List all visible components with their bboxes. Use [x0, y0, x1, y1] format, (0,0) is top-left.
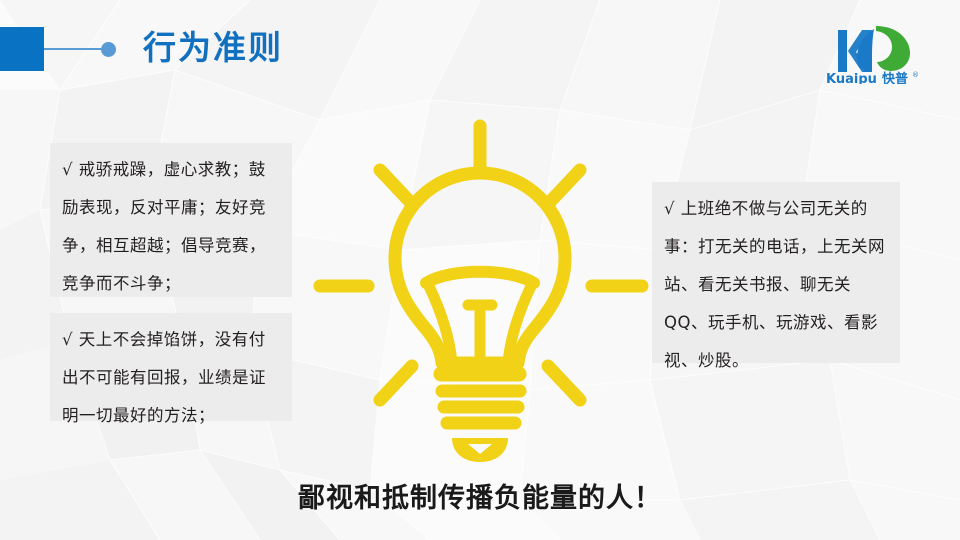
header-accent-square: [0, 27, 44, 71]
bottom-headline: 鄙视和抵制传播负能量的人！: [0, 476, 960, 515]
panel-right-check: √: [664, 199, 675, 218]
panel-left-bottom-text: 天上不会掉馅饼，没有付出不可能有回报，业绩是证明一切最好的方法；: [62, 330, 266, 425]
logo-registered-mark: ®: [912, 71, 919, 79]
ray-top-left: [380, 170, 412, 204]
ray-bottom-left: [380, 366, 412, 400]
logo-wordmark-cn: 快普: [882, 71, 908, 84]
panel-left-top-text: 戒骄戒躁，虚心求教；鼓励表现，反对平庸；友好竞争，相互超越；倡导竞赛，竞争而不斗…: [62, 160, 266, 293]
panel-left-bottom: √ 天上不会掉馅饼，没有付出不可能有回报，业绩是证明一切最好的方法；: [50, 313, 292, 421]
bulb-screw-base: [441, 374, 520, 423]
logo-wordmark-latin: Kuaipu: [826, 72, 877, 84]
header-connector-dot: [101, 42, 116, 57]
panel-right-text: 上班绝不做与公司无关的事：打无关的电话，上无关网站、看无关书报、聊无关QQ、玩手…: [664, 199, 885, 370]
panel-left-top: √ 戒骄戒躁，虚心求教；鼓励表现，反对平庸；友好竞争，相互超越；倡导竞赛，竞争而…: [50, 143, 292, 297]
panel-left-bottom-check: √: [62, 330, 73, 349]
ray-bottom-right: [548, 366, 580, 400]
page-title: 行为准则: [143, 26, 283, 70]
filament-arc: [426, 272, 534, 283]
header-connector-line: [44, 48, 106, 50]
ray-top-right: [548, 170, 580, 204]
company-logo: Kuaipu 快普 ®: [824, 22, 940, 84]
lightbulb-icon: [300, 108, 660, 468]
panel-left-top-check: √: [62, 160, 73, 179]
slide-canvas: 行为准则 Kuaipu 快普 ®: [0, 0, 960, 540]
panel-right: √ 上班绝不做与公司无关的事：打无关的电话，上无关网站、看无关书报、聊无关QQ、…: [652, 182, 900, 363]
